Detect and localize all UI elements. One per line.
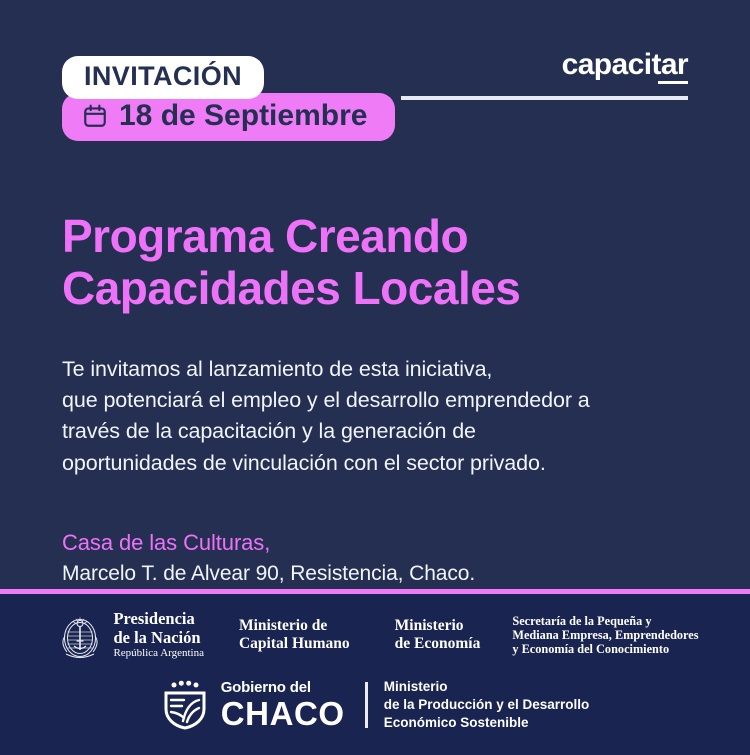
ministerio-capital-humano-label: Ministerio de Capital Humano xyxy=(239,617,350,652)
chaco-shield-icon xyxy=(161,680,209,730)
venue-address: Marcelo T. de Alvear 90, Resistencia, Ch… xyxy=(62,559,688,589)
venue-block: Casa de las Culturas, Marcelo T. de Alve… xyxy=(62,527,688,589)
program-description: Te invitamos al lanzamiento de esta inic… xyxy=(62,354,688,479)
invitation-label-badge: INVITACIÓN xyxy=(62,56,264,99)
invitation-poster: INVITACIÓN 18 de Septiembre capacitar Pr… xyxy=(0,0,750,750)
event-date-label: 18 de Septiembre xyxy=(119,101,367,131)
presidencia-line-2: de la Nación xyxy=(113,629,204,647)
chaco-vertical-separator xyxy=(365,682,368,728)
footer-logos-row-1: Presidencia de la Nación República Argen… xyxy=(0,608,750,662)
ministerio-economia-label: Ministerio de Economía xyxy=(395,617,481,652)
argentina-coat-of-arms-icon xyxy=(57,608,103,662)
poster-footer: Presidencia de la Nación República Argen… xyxy=(0,594,750,755)
chaco-name-label: CHACO xyxy=(221,697,345,730)
program-title: Programa Creando Capacidades Locales xyxy=(62,211,688,314)
capacitar-brand: capacitar xyxy=(401,50,688,100)
brand-horizontal-rule xyxy=(401,96,688,100)
presidencia-logo-block: Presidencia de la Nación República Argen… xyxy=(57,608,204,662)
event-date-badge: 18 de Septiembre xyxy=(62,93,395,141)
invitation-badge-group: INVITACIÓN 18 de Septiembre xyxy=(62,56,395,141)
calendar-icon xyxy=(82,103,108,129)
chaco-wordmark: Gobierno del CHACO xyxy=(221,680,345,730)
poster-body: Programa Creando Capacidades Locales Te … xyxy=(0,160,750,589)
footer-logos-row-2: Gobierno del CHACO Ministerio de la Prod… xyxy=(0,678,750,732)
ministerio-produccion-label: Ministerio de la Producción y el Desarro… xyxy=(384,678,590,732)
chaco-gobierno-label: Gobierno del xyxy=(221,680,345,695)
venue-name: Casa de las Culturas, xyxy=(62,527,688,559)
secretaria-pyme-label: Secretaría de la Pequeña y Mediana Empre… xyxy=(512,614,698,657)
brand-wordmark: capacitar xyxy=(562,50,688,84)
brand-underline-accent xyxy=(658,81,688,84)
presidencia-text: Presidencia de la Nación República Argen… xyxy=(113,610,204,659)
poster-header: INVITACIÓN 18 de Septiembre capacitar xyxy=(0,0,750,160)
presidencia-line-3: República Argentina xyxy=(113,647,204,659)
brand-wordmark-text: capacitar xyxy=(562,48,688,81)
presidencia-line-1: Presidencia xyxy=(113,610,204,628)
